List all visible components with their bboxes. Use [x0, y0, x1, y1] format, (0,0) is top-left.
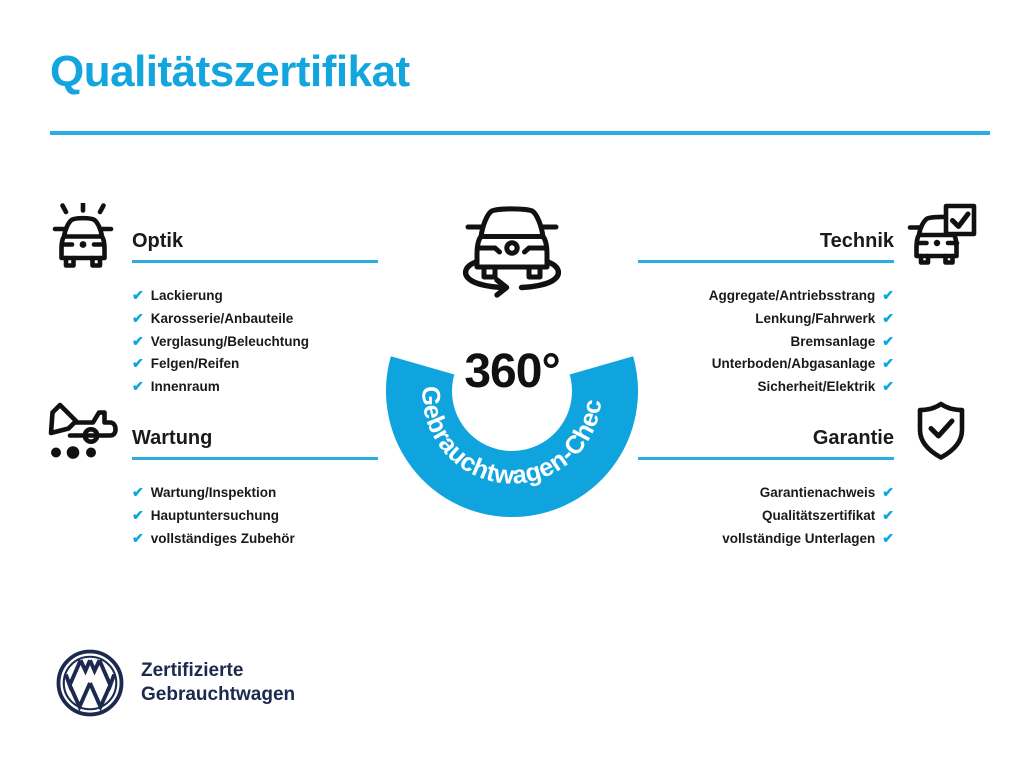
list-item: ✔Hauptuntersuchung [46, 505, 386, 528]
vw-certified-logo: Zertifizierte Gebrauchtwagen [55, 648, 295, 718]
shield-check-icon [904, 400, 978, 467]
car-front-checkbox-icon [904, 203, 978, 270]
vw-logo-line1: Zertifizierte [141, 659, 295, 683]
section-optik-list: ✔Lackierung ✔Karosserie/Anbauteile ✔Verg… [46, 285, 386, 399]
list-item-label: vollständige Unterlagen [722, 528, 875, 551]
section-optik-divider [132, 260, 378, 263]
check-icon: ✔ [132, 311, 144, 325]
list-item-label: Hauptuntersuchung [151, 505, 279, 528]
vw-logo-line2: Gebrauchtwagen [141, 683, 295, 707]
list-item-label: vollständiges Zubehör [151, 528, 295, 551]
section-garantie-list: Garantienachweis✔ Qualitätszertifikat✔ v… [638, 482, 978, 550]
list-item-label: Sicherheit/Elektrik [757, 376, 875, 399]
check-icon: ✔ [132, 356, 144, 370]
section-optik-header: Optik [46, 203, 386, 275]
section-garantie-divider [638, 457, 894, 460]
list-item-label: Wartung/Inspektion [151, 482, 277, 505]
check-icon: ✔ [132, 288, 144, 302]
section-wartung-list: ✔Wartung/Inspektion ✔Hauptuntersuchung ✔… [46, 482, 386, 550]
badge-center-label: 360° [378, 344, 646, 399]
check-icon: ✔ [882, 311, 894, 325]
check-icon: ✔ [882, 379, 894, 393]
list-item: Unterboden/Abgasanlage✔ [638, 353, 978, 376]
section-garantie-header: Garantie [638, 400, 978, 472]
section-technik-divider [638, 260, 894, 263]
check-icon: ✔ [882, 485, 894, 499]
list-item: vollständige Unterlagen✔ [638, 528, 978, 551]
check-icon: ✔ [882, 356, 894, 370]
vw-logo-text: Zertifizierte Gebrauchtwagen [141, 659, 295, 708]
list-item: ✔Innenraum [46, 376, 386, 399]
list-item: ✔Felgen/Reifen [46, 353, 386, 376]
pencil-car-service-icon [46, 400, 120, 467]
certificate-page: Qualitätszertifikat [0, 0, 1024, 768]
section-wartung-header: Wartung [46, 400, 386, 472]
car-rotation-360-icon [454, 196, 570, 302]
list-item-label: Garantienachweis [760, 482, 876, 505]
section-wartung-title: Wartung [132, 427, 212, 450]
check-icon: ✔ [132, 485, 144, 499]
section-wartung: Wartung ✔Wartung/Inspektion ✔Hauptunters… [46, 400, 386, 550]
list-item-label: Verglasung/Beleuchtung [151, 331, 309, 354]
check-icon: ✔ [132, 531, 144, 545]
section-technik-header: Technik [638, 203, 978, 275]
gebrauchtwagen-check-badge: Gebrauchtwagen-Check 360° [378, 196, 646, 486]
list-item: ✔vollständiges Zubehör [46, 528, 386, 551]
list-item-label: Innenraum [151, 376, 220, 399]
list-item: ✔Lackierung [46, 285, 386, 308]
list-item: Sicherheit/Elektrik✔ [638, 376, 978, 399]
list-item: Garantienachweis✔ [638, 482, 978, 505]
check-icon: ✔ [882, 288, 894, 302]
check-icon: ✔ [132, 334, 144, 348]
list-item-label: Qualitätszertifikat [762, 505, 875, 528]
list-item-label: Felgen/Reifen [151, 353, 240, 376]
page-title: Qualitätszertifikat [50, 48, 410, 96]
section-garantie-title: Garantie [813, 427, 894, 450]
car-front-lights-icon [46, 203, 120, 274]
list-item: Qualitätszertifikat✔ [638, 505, 978, 528]
section-technik-list: Aggregate/Antriebsstrang✔ Lenkung/Fahrwe… [638, 285, 978, 399]
list-item-label: Lackierung [151, 285, 223, 308]
section-technik-title: Technik [820, 230, 894, 253]
list-item: ✔Wartung/Inspektion [46, 482, 386, 505]
check-icon: ✔ [882, 334, 894, 348]
list-item: Bremsanlage✔ [638, 331, 978, 354]
list-item-label: Lenkung/Fahrwerk [755, 308, 875, 331]
list-item: ✔Karosserie/Anbauteile [46, 308, 386, 331]
list-item: ✔Verglasung/Beleuchtung [46, 331, 386, 354]
list-item-label: Bremsanlage [790, 331, 875, 354]
section-optik-title: Optik [132, 230, 183, 253]
section-technik: Technik Aggregate/Antriebsstrang✔ Lenkun… [638, 203, 978, 399]
title-divider [50, 131, 990, 135]
check-icon: ✔ [882, 508, 894, 522]
list-item-label: Aggregate/Antriebsstrang [709, 285, 876, 308]
check-icon: ✔ [882, 531, 894, 545]
vw-logo-icon [55, 648, 125, 718]
section-garantie: Garantie Garantienachweis✔ Qualitätszert… [638, 400, 978, 550]
list-item-label: Karosserie/Anbauteile [151, 308, 294, 331]
list-item: Lenkung/Fahrwerk✔ [638, 308, 978, 331]
list-item-label: Unterboden/Abgasanlage [712, 353, 876, 376]
check-icon: ✔ [132, 508, 144, 522]
section-optik: Optik ✔Lackierung ✔Karosserie/Anbauteile… [46, 203, 386, 399]
list-item: Aggregate/Antriebsstrang✔ [638, 285, 978, 308]
check-icon: ✔ [132, 379, 144, 393]
section-wartung-divider [132, 457, 378, 460]
